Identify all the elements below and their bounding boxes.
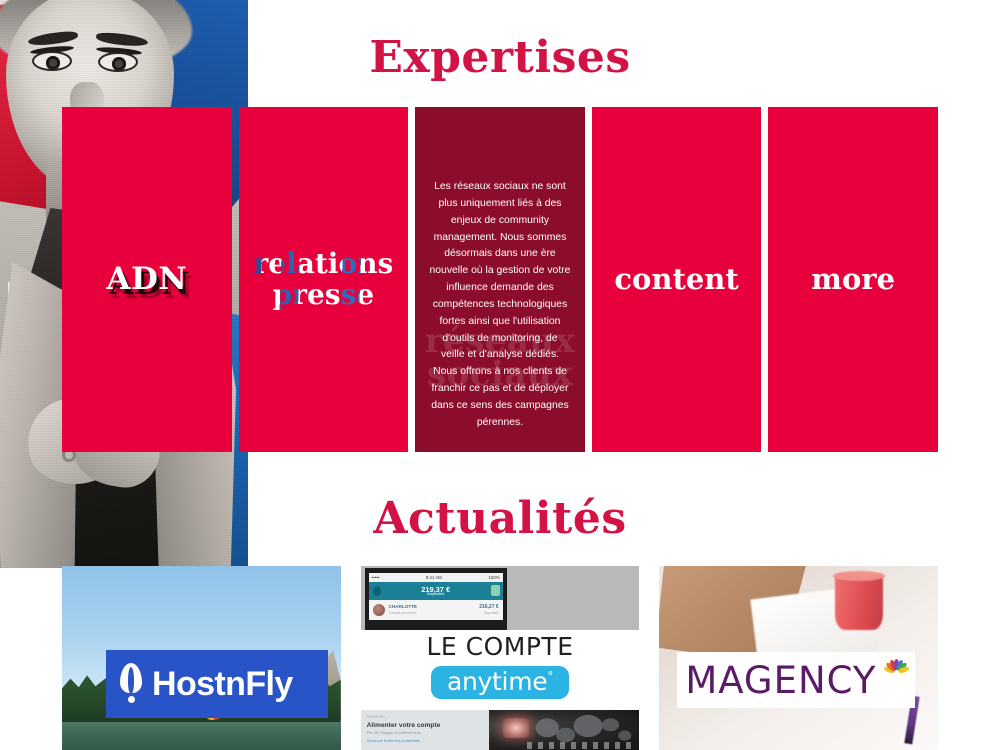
expertise-panel-more-label: more — [805, 264, 901, 295]
hostnfly-logo-text: HostnFly — [152, 665, 293, 704]
actualite-card-hostnfly[interactable]: HostnFly — [62, 566, 341, 750]
page-root: Expertises ADN relations presse réseaux … — [0, 0, 1000, 750]
anytime-logo-line-2: anytime — [447, 667, 547, 696]
expertise-panel-more[interactable]: more — [768, 107, 938, 452]
phone-account-row: CHARLOTTECompte personnel 216,27 €Dispon… — [369, 600, 503, 620]
lock-icon — [491, 585, 500, 596]
actualite-card-magency[interactable]: MAGENCY — [659, 566, 938, 750]
actualites-section-title: Actualités — [0, 493, 1000, 544]
account-amount: 216,27 €Disponible — [479, 604, 498, 616]
phone-status-bar: ••••• 9:41 AM 100% — [369, 573, 503, 582]
hostnfly-logo-banner: HostnFly — [106, 650, 328, 718]
expertise-panel-content-label: content — [608, 264, 744, 295]
status-battery: 100% — [488, 575, 499, 580]
hostnfly-lake — [62, 722, 341, 750]
world-map-graphic — [535, 714, 637, 744]
anytime-bottom-strip: SERVICES Alimenter votre compte Par CB, … — [361, 710, 640, 750]
status-time: 9:41 AM — [426, 575, 442, 580]
service-kicker: SERVICES — [367, 715, 483, 719]
magency-red-cup — [835, 574, 883, 630]
expertise-panel-relations-presse-label: relations presse — [248, 249, 400, 309]
expertise-panel-reseaux-body-text: Les réseaux sociaux ne sont plus uniquem… — [429, 179, 571, 432]
anytime-card-chip-visual — [489, 710, 639, 750]
anytime-logo-badge: anytime° — [431, 666, 569, 699]
phone-balance-amount: 219,37 € Disponible — [421, 586, 450, 597]
avatar — [373, 604, 385, 616]
dotted-overlay — [527, 742, 637, 749]
service-link[interactable]: Découvrir toutes les possibilités — [367, 739, 483, 743]
expertise-panel-adn[interactable]: ADN — [62, 107, 232, 452]
expertises-panel-row: ADN relations presse réseaux sociaux Les… — [62, 107, 938, 452]
anytime-service-panel: SERVICES Alimenter votre compte Par CB, … — [361, 710, 489, 750]
status-signal: ••••• — [372, 575, 380, 580]
service-subtitle: Par CB, Paypal ou prélèvement. — [367, 731, 483, 737]
anytime-logo: LE COMPTE anytime° — [361, 634, 640, 699]
magency-logo-banner: MAGENCY — [677, 652, 915, 708]
expertise-panel-relations-presse[interactable]: relations presse — [239, 107, 409, 452]
card-chip-icon — [503, 718, 529, 738]
label-line-2: presse — [273, 278, 375, 311]
magency-logo-text: MAGENCY — [677, 662, 876, 699]
location-pin-icon — [373, 586, 381, 596]
label-line-1: relations — [254, 247, 394, 280]
expertise-panel-content[interactable]: content — [592, 107, 762, 452]
phone-balance-header: 219,37 € Disponible — [369, 582, 503, 600]
anytime-logo-superscript: ° — [547, 670, 553, 684]
actualite-card-anytime[interactable]: ••••• 9:41 AM 100% 219,37 € Disponible C… — [361, 566, 640, 750]
magency-cup-rim — [833, 571, 885, 581]
expertise-panel-adn-label: ADN — [100, 263, 193, 296]
hot-air-balloon-icon — [118, 663, 144, 705]
anytime-phone-mockup: ••••• 9:41 AM 100% 219,37 € Disponible C… — [365, 568, 507, 630]
service-title: Alimenter votre compte — [367, 722, 483, 729]
account-name: CHARLOTTECompte personnel — [389, 604, 417, 616]
anytime-logo-line-1: LE COMPTE — [361, 634, 640, 659]
actualites-card-row: HostnFly ••••• 9:41 AM 100% 219,37 € Dis… — [62, 566, 938, 750]
expertise-panel-reseaux-sociaux[interactable]: réseaux sociaux Les réseaux sociaux ne s… — [415, 107, 585, 452]
expertises-section-title: Expertises — [0, 32, 1000, 83]
color-burst-icon — [883, 658, 909, 684]
